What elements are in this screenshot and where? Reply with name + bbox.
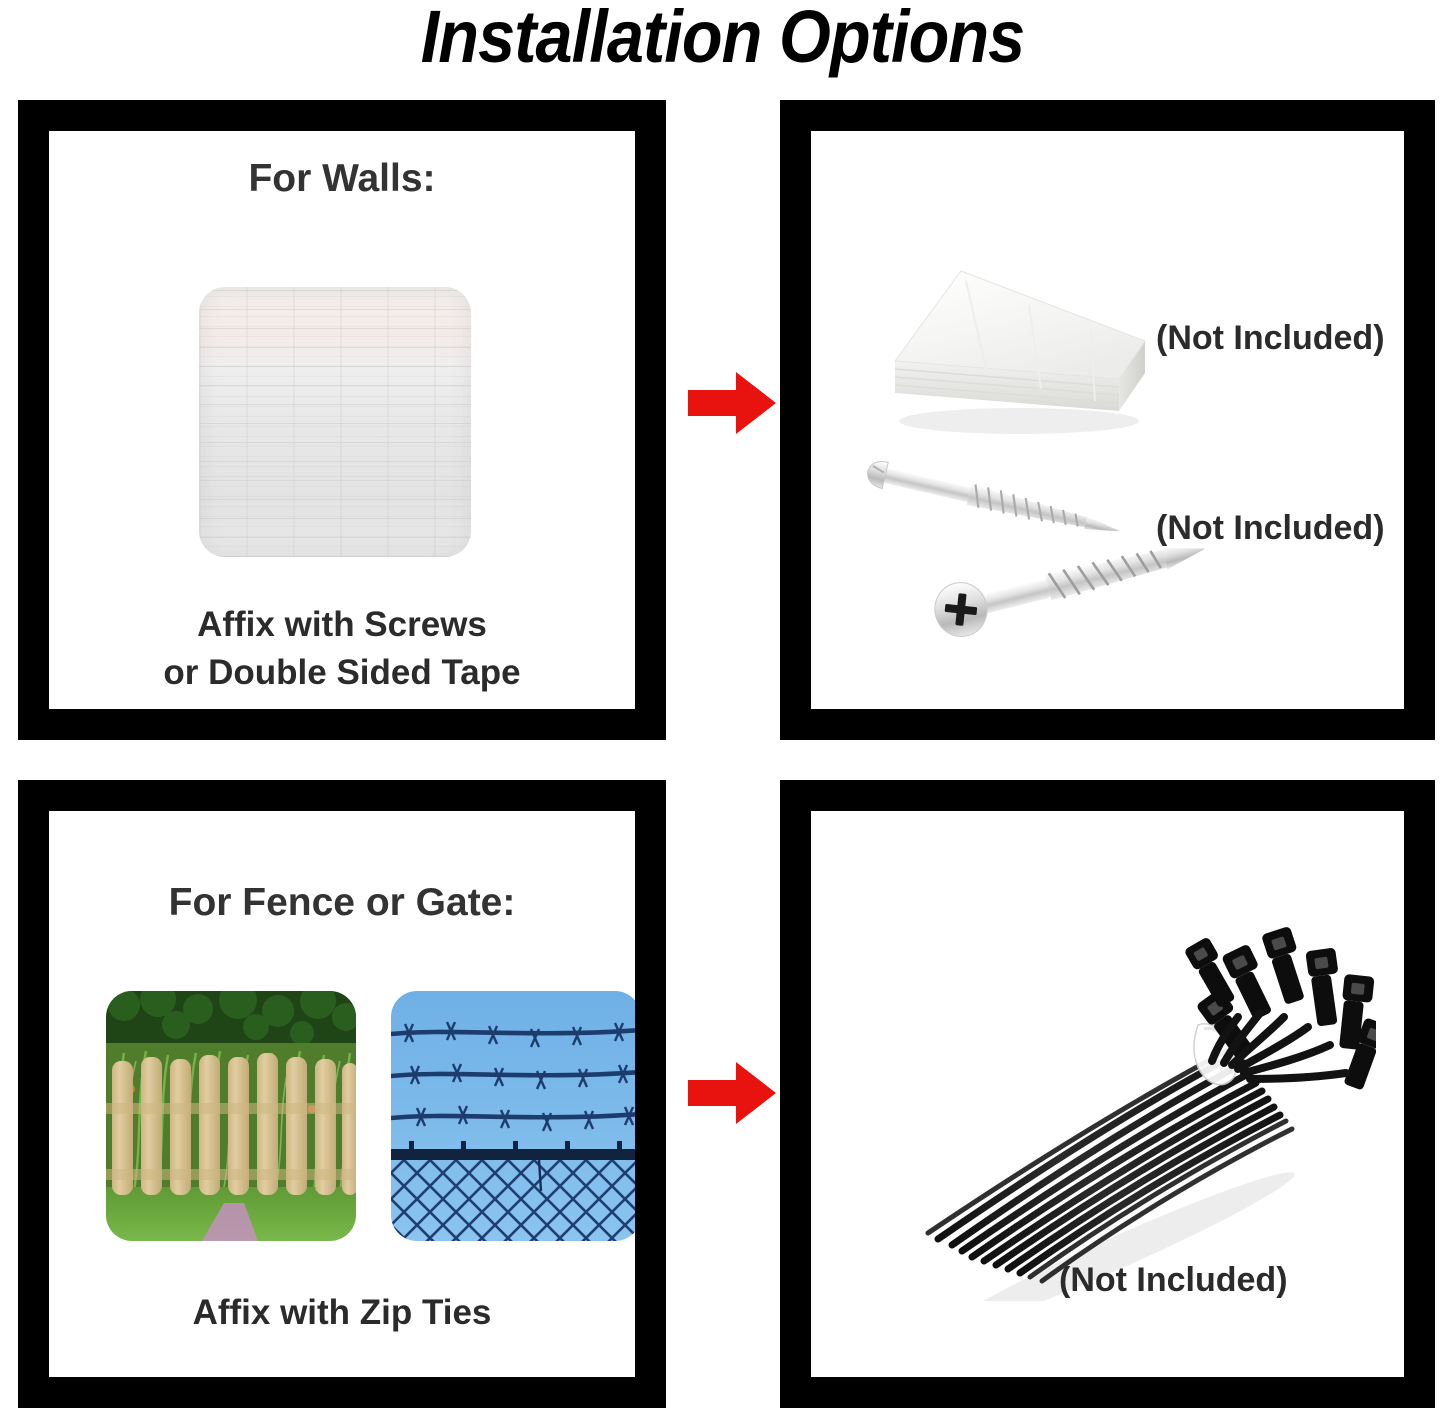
caption-affix-with-zip-ties: Affix with Zip Ties <box>49 1289 635 1336</box>
screws-pair-image <box>841 451 1241 661</box>
installation-options-infographic: Installation Options For Walls: Affix wi… <box>0 0 1445 1422</box>
double-sided-tape-stack-image <box>869 243 1169 443</box>
panel-heading-for-fence-or-gate: For Fence or Gate: <box>49 881 635 925</box>
chain-link-barbed-wire-fence-photo <box>391 991 635 1241</box>
note-not-included-tape: (Not Included) <box>1156 319 1385 358</box>
panel-zip-ties: (Not Included) <box>780 780 1435 1408</box>
white-brick-wall-swatch-image <box>199 287 471 557</box>
caption-affix-with-screws: Affix with Screws <box>49 601 635 648</box>
note-not-included-screws: (Not Included) <box>1156 509 1385 548</box>
panel-for-walls: For Walls: Affix with Screws or Double S… <box>18 100 666 740</box>
black-zip-ties-bundle-image <box>866 921 1376 1301</box>
wooden-picket-fence-photo <box>106 991 356 1241</box>
page-title: Installation Options <box>72 0 1373 79</box>
panel-for-fence-or-gate: For Fence or Gate: <box>18 780 666 1408</box>
note-not-included-zip-ties: (Not Included) <box>1059 1261 1288 1300</box>
panel-heading-for-walls: For Walls: <box>49 157 635 201</box>
panel-wall-hardware: (Not Included) <box>780 100 1435 740</box>
caption-or-double-sided-tape: or Double Sided Tape <box>49 649 635 696</box>
